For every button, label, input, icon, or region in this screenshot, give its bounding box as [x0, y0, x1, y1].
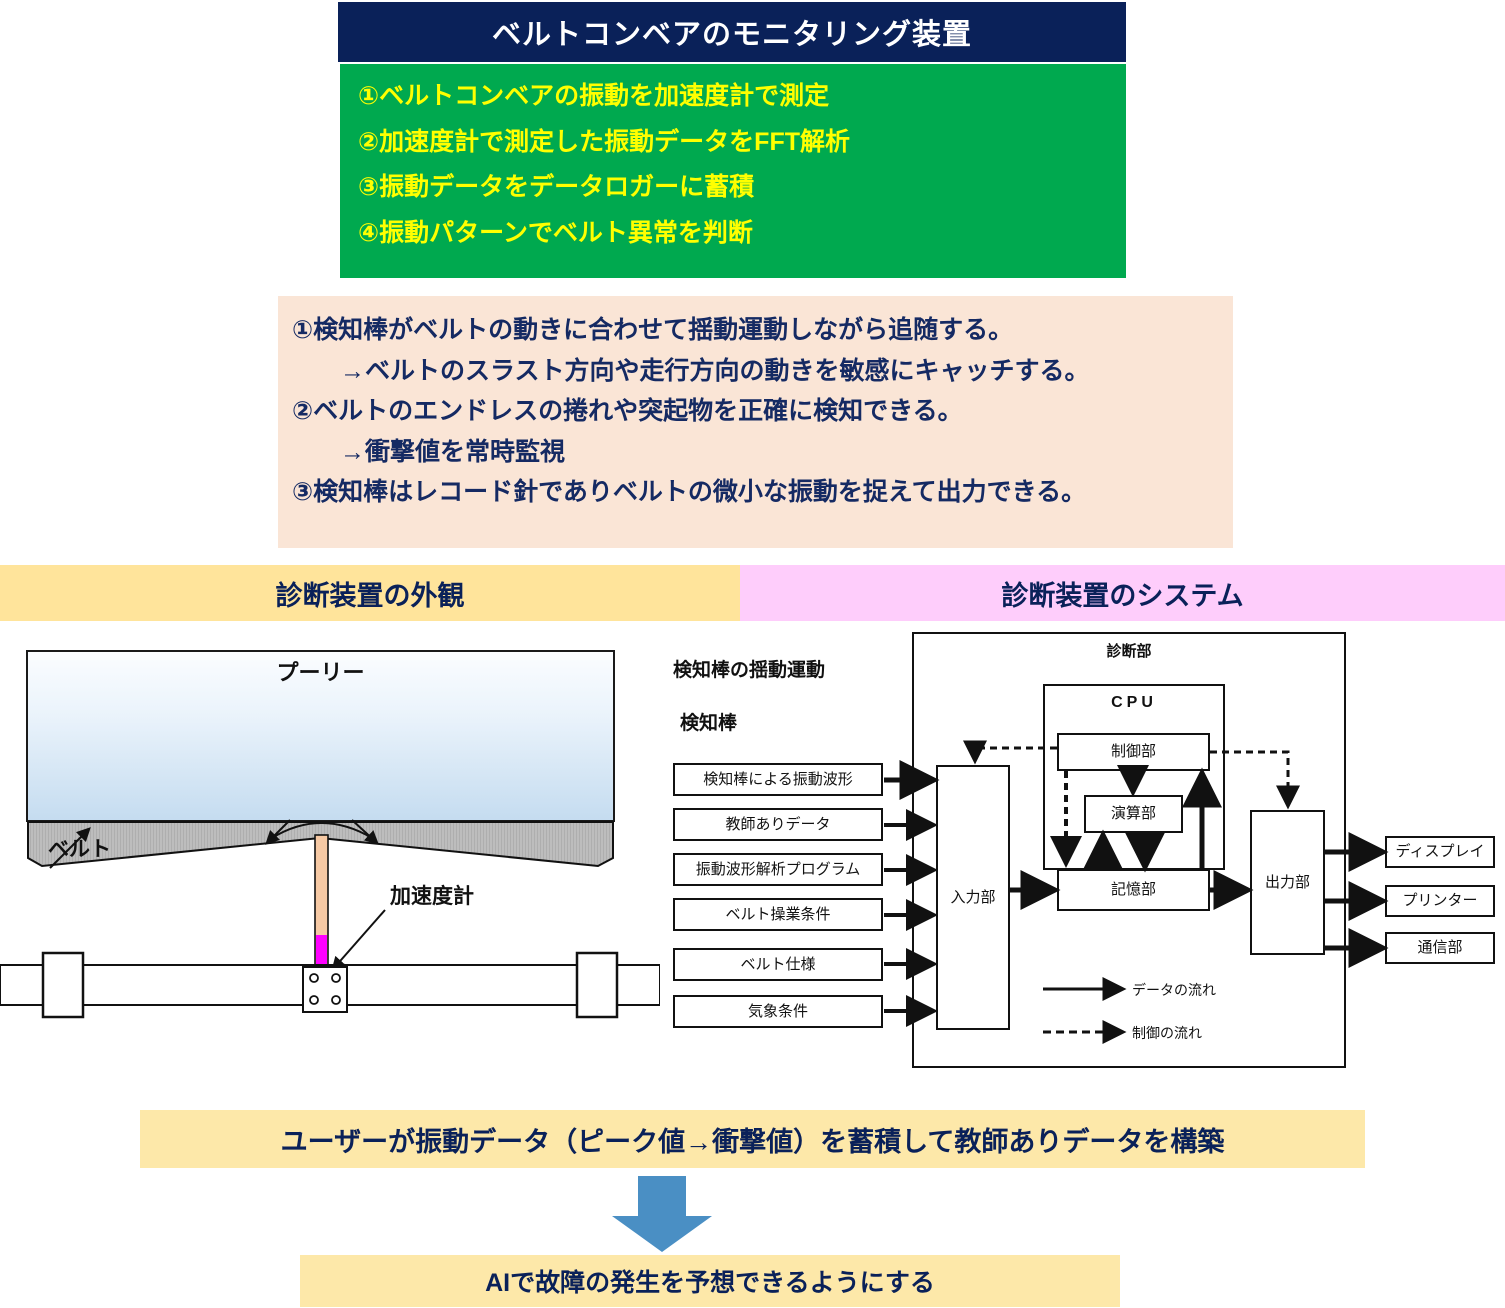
- green-summary-panel: ①ベルトコンベアの振動を加速度計で測定 ②加速度計で測定した振動データをFFT解…: [340, 64, 1126, 278]
- system-subheading: 検知棒: [680, 708, 737, 735]
- diagnosis-unit-label: 診断部: [912, 640, 1346, 661]
- mount-bolt: [332, 996, 340, 1004]
- beige-line: ①検知棒がベルトの動きに合わせて揺動運動しながら追随する。: [292, 310, 1233, 351]
- mount-bolt: [310, 974, 318, 982]
- main-title-text: ベルトコンベアのモニタリング装置: [492, 11, 972, 53]
- output-box-communication[interactable]: 通信部: [1385, 932, 1495, 964]
- bearing-block-right: [577, 953, 617, 1017]
- green-item: ④振動パターンでベルト異常を判断: [358, 211, 1126, 257]
- section-bar-system-label: 診断装置のシステム: [740, 565, 1505, 621]
- mount-bolt: [332, 974, 340, 982]
- sensor-mount-plate: [303, 967, 347, 1012]
- beige-line: ②ベルトのエンドレスの捲れや突起物を正確に検知できる。: [292, 391, 1233, 432]
- input-box-belt-specification[interactable]: ベルト仕様: [673, 948, 883, 981]
- bearing-block-left: [43, 953, 83, 1017]
- bottom-banner-user-data: ユーザーが振動データ（ピーク値→衝撃値）を蓄積して教師ありデータを構築: [140, 1110, 1365, 1168]
- input-box-weather-conditions[interactable]: 気象条件: [673, 995, 883, 1028]
- beige-line: →衝撃値を常時監視: [340, 432, 1233, 473]
- section-bar-system: 診断装置のシステム: [740, 565, 1505, 621]
- input-unit-box[interactable]: 入力部: [936, 765, 1010, 1030]
- control-unit-box[interactable]: 制御部: [1057, 733, 1210, 771]
- green-item: ③振動データをデータロガーに蓄積: [358, 165, 1126, 211]
- mount-bolt: [310, 996, 318, 1004]
- bottom-banner-ai-goal: AIで故障の発生を予想できるようにする: [300, 1255, 1120, 1307]
- beige-description-panel: ①検知棒がベルトの動きに合わせて揺動運動しながら追随する。 →ベルトのスラスト方…: [278, 296, 1233, 548]
- accelerometer-label: 加速度計: [390, 880, 474, 910]
- cpu-label: CPU: [1043, 694, 1225, 712]
- accelerometer-leader-line: [334, 910, 385, 968]
- memory-unit-box[interactable]: 記憶部: [1057, 869, 1210, 911]
- down-arrow-icon: [608, 1176, 718, 1254]
- main-title-bar: ベルトコンベアのモニタリング装置: [338, 2, 1126, 62]
- output-box-printer[interactable]: プリンター: [1385, 885, 1495, 917]
- input-box-labeled-data[interactable]: 教師ありデータ: [673, 808, 883, 841]
- section-bar-appearance: 診断装置の外観: [0, 565, 740, 621]
- green-item: ①ベルトコンベアの振動を加速度計で測定: [358, 74, 1126, 120]
- belt-label: ベルト: [48, 833, 111, 863]
- beige-line: ③検知棒はレコード針でありベルトの微小な振動を捉えて出力できる。: [292, 472, 1233, 513]
- output-unit-box[interactable]: 出力部: [1250, 810, 1325, 955]
- input-box-analysis-program[interactable]: 振動波形解析プログラム: [673, 853, 883, 886]
- beige-line: →ベルトのスラスト方向や走行方向の動きを敏感にキャッチする。: [340, 351, 1233, 392]
- input-box-vibration-waveform[interactable]: 検知棒による振動波形: [673, 763, 883, 796]
- system-heading: 検知棒の揺動運動: [673, 655, 825, 682]
- calc-unit-box[interactable]: 演算部: [1084, 795, 1183, 833]
- legend-control-flow-label: 制御の流れ: [1132, 1023, 1202, 1043]
- legend-data-flow-label: データの流れ: [1132, 980, 1216, 1000]
- input-box-belt-operating-conditions[interactable]: ベルト操業条件: [673, 898, 883, 931]
- output-box-display[interactable]: ディスプレイ: [1385, 836, 1495, 868]
- section-bar-appearance-label: 診断装置の外観: [0, 565, 740, 621]
- green-item: ②加速度計で測定した振動データをFFT解析: [358, 120, 1126, 166]
